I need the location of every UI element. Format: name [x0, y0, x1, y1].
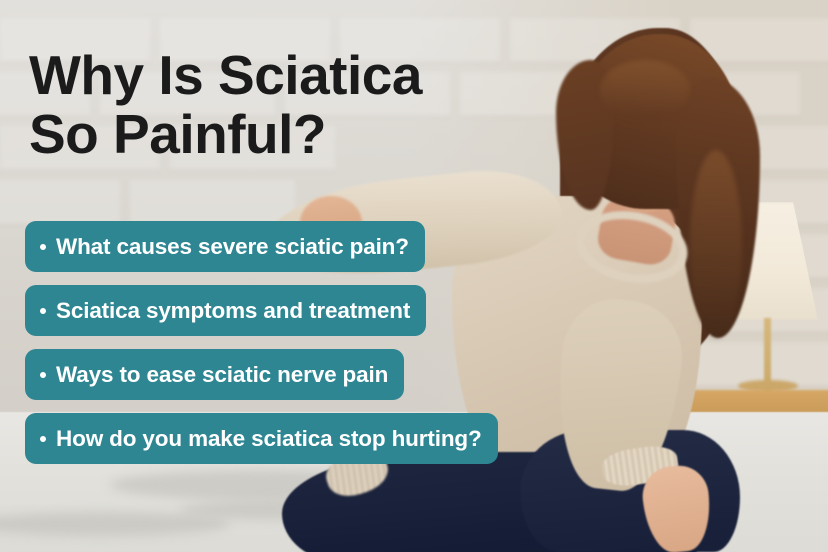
- bullet-row: Ways to ease sciatic nerve pain: [25, 349, 498, 413]
- page-title: Why Is Sciatica So Painful?: [29, 46, 549, 164]
- hair-strand: [600, 60, 690, 120]
- bullet-dot-icon: [40, 436, 46, 442]
- bullet-row: How do you make sciatica stop hurting?: [25, 413, 498, 477]
- bullet-row: Sciatica symptoms and treatment: [25, 285, 498, 349]
- bullet-item-1[interactable]: What causes severe sciatic pain?: [25, 221, 425, 272]
- bullet-row: What causes severe sciatic pain?: [25, 221, 498, 285]
- bullet-item-3[interactable]: Ways to ease sciatic nerve pain: [25, 349, 404, 400]
- bullet-dot-icon: [40, 308, 46, 314]
- hair-strand: [690, 150, 742, 340]
- bullet-list: What causes severe sciatic pain? Sciatic…: [25, 221, 498, 477]
- poster-canvas: Why Is Sciatica So Painful? What causes …: [0, 0, 828, 552]
- bullet-dot-icon: [40, 372, 46, 378]
- bullet-item-2[interactable]: Sciatica symptoms and treatment: [25, 285, 426, 336]
- bullet-dot-icon: [40, 244, 46, 250]
- bullet-item-4[interactable]: How do you make sciatica stop hurting?: [25, 413, 498, 464]
